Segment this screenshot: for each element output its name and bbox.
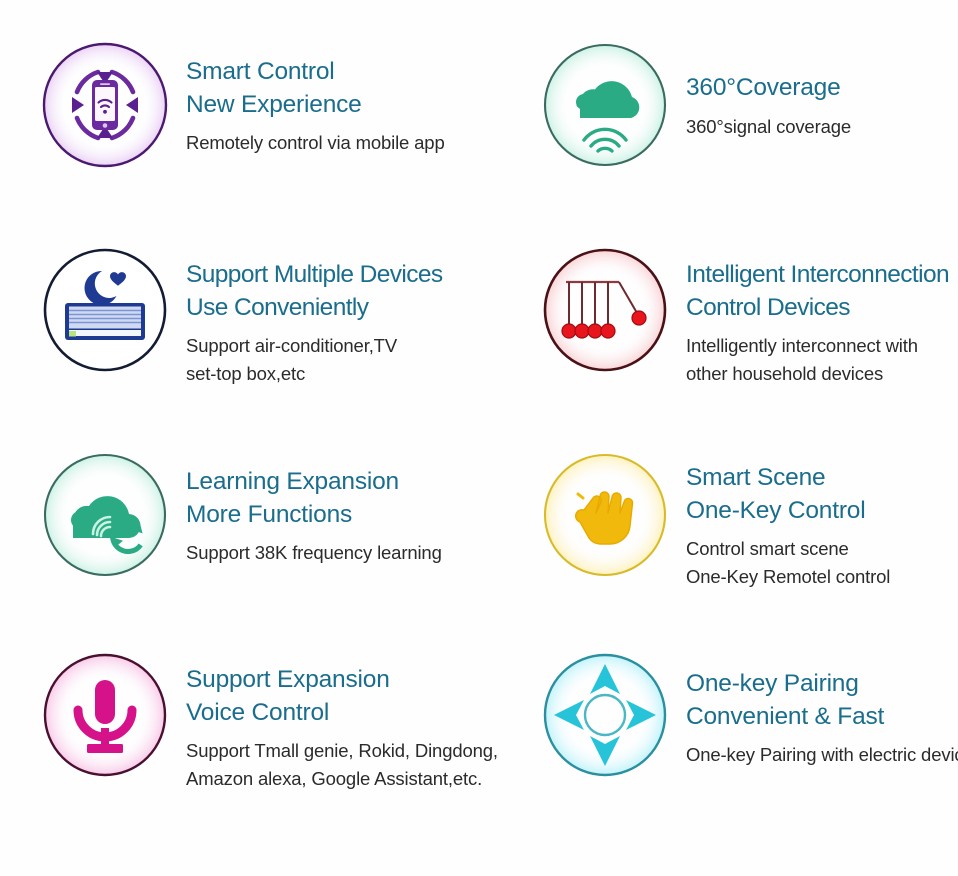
feature-desc-line-2: One-Key Remotel control — [686, 564, 890, 590]
feature-heading-line-1: Support Expansion — [186, 664, 498, 697]
feature-support-multiple-devices: Support Multiple Devices Use Convenientl… — [40, 223, 500, 428]
feature-desc-line-1: Support 38K frequency learning — [186, 540, 442, 566]
feature-heading-line-1: Learning Expansion — [186, 466, 442, 499]
dpad-arrows-icon — [540, 650, 670, 780]
feature-heading-line-2: Control Devices — [686, 292, 949, 325]
feature-desc-line-1: 360°signal coverage — [686, 114, 851, 140]
feature-heading-line-1: Smart Control — [186, 56, 445, 89]
infographic-page: Smart Control New Experience Remotely co… — [0, 0, 958, 876]
feature-coverage-360: 360°Coverage 360°signal coverage — [530, 18, 958, 223]
feature-text: Smart Control New Experience Remotely co… — [186, 40, 445, 156]
feature-heading-line-1: One-key Pairing — [686, 668, 958, 701]
feature-desc-line-1: Support air-conditioner,TV — [186, 333, 443, 359]
feature-support-expansion-voice: Support Expansion Voice Control Support … — [40, 628, 500, 828]
feature-heading-line-2: One-Key Control — [686, 495, 890, 528]
feature-heading-line-2: More Functions — [186, 499, 442, 532]
feature-heading-line-2: New Experience — [186, 89, 445, 122]
smartphone-arrows-icon — [40, 40, 170, 170]
feature-heading-line-1: 360°Coverage — [686, 72, 851, 105]
feature-text: Intelligent Interconnection Control Devi… — [686, 245, 949, 388]
feature-desc-line-1: Intelligently interconnect with — [686, 333, 949, 359]
feature-desc-line-1: Support Tmall genie, Rokid, Dingdong, — [186, 738, 498, 764]
feature-intelligent-interconnection: Intelligent Interconnection Control Devi… — [530, 223, 958, 428]
feature-learning-expansion: Learning Expansion More Functions Suppor… — [40, 428, 500, 628]
feature-heading-line-2: Use Conveniently — [186, 292, 443, 325]
feature-smart-control: Smart Control New Experience Remotely co… — [40, 18, 500, 223]
feature-heading-line-2: Voice Control — [186, 697, 498, 730]
cloud-signal-icon — [540, 40, 670, 170]
features-grid: Smart Control New Experience Remotely co… — [0, 18, 958, 828]
feature-heading-line-2: Convenient & Fast — [686, 701, 958, 734]
feature-heading-line-1: Intelligent Interconnection — [686, 259, 949, 292]
feature-desc-line-1: Control smart scene — [686, 536, 890, 562]
feature-heading-line-1: Smart Scene — [686, 462, 890, 495]
pointing-hand-icon — [540, 450, 670, 580]
cloud-sync-icon — [40, 450, 170, 580]
feature-smart-scene: Smart Scene One-Key Control Control smar… — [530, 428, 958, 628]
feature-text: Support Multiple Devices Use Convenientl… — [186, 245, 443, 388]
feature-text: One-key Pairing Convenient & Fast One-ke… — [686, 650, 958, 768]
feature-desc-line-2: Amazon alexa, Google Assistant,etc. — [186, 766, 498, 792]
feature-heading-line-1: Support Multiple Devices — [186, 259, 443, 292]
feature-desc-line-1: Remotely control via mobile app — [186, 130, 445, 156]
air-conditioner-moon-icon — [40, 245, 170, 375]
feature-desc-line-1: One-key Pairing with electric devices — [686, 742, 958, 768]
feature-text: Learning Expansion More Functions Suppor… — [186, 450, 442, 566]
feature-desc-line-2: other household devices — [686, 361, 949, 387]
feature-text: Smart Scene One-Key Control Control smar… — [686, 450, 890, 591]
feature-desc-line-2: set-top box,etc — [186, 361, 443, 387]
feature-text: 360°Coverage 360°signal coverage — [686, 40, 851, 140]
feature-one-key-pairing: One-key Pairing Convenient & Fast One-ke… — [530, 628, 958, 828]
newtons-cradle-icon — [540, 245, 670, 375]
microphone-icon — [40, 650, 170, 780]
feature-text: Support Expansion Voice Control Support … — [186, 650, 498, 793]
